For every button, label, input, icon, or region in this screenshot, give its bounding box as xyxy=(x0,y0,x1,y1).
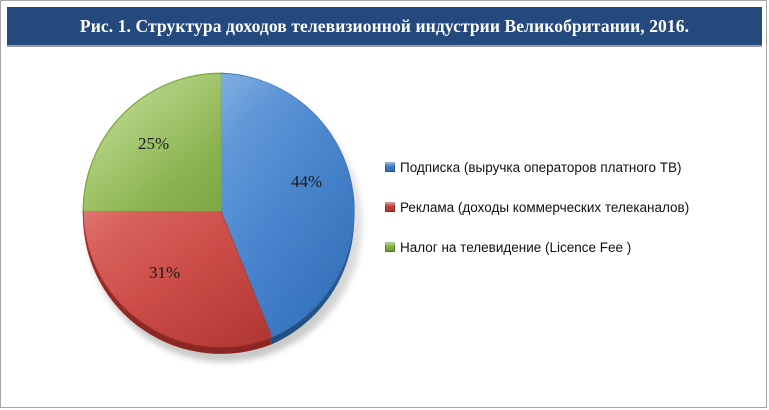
figure-frame: Рис. 1. Структура доходов телевизионной … xyxy=(0,0,767,408)
legend-label-advertising: Реклама (доходы коммерческих телеканалов… xyxy=(400,200,689,215)
pie-label-subscription: 44% xyxy=(291,172,322,192)
page-title: Рис. 1. Структура доходов телевизионной … xyxy=(80,16,689,37)
legend-label-subscription: Подписка (выручка операторов платного ТВ… xyxy=(400,160,682,175)
legend-swatch-green-icon xyxy=(385,242,395,252)
pie-top-faces xyxy=(83,73,354,347)
pie-label-licence-fee: 25% xyxy=(138,134,169,154)
chart-legend: Подписка (выручка операторов платного ТВ… xyxy=(385,147,755,267)
pie-svg xyxy=(75,62,367,362)
pie-chart: 44% 31% 25% xyxy=(75,62,367,362)
legend-swatch-red-icon xyxy=(385,202,395,212)
legend-swatch-blue-icon xyxy=(385,162,395,172)
pie-label-advertising: 31% xyxy=(149,263,180,283)
legend-item-advertising[interactable]: Реклама (доходы коммерческих телеканалов… xyxy=(385,187,755,227)
figure-title-bar: Рис. 1. Структура доходов телевизионной … xyxy=(7,7,762,47)
legend-item-licence-fee[interactable]: Налог на телевидение (Licence Fee ) xyxy=(385,227,755,267)
chart-plot-area: 44% 31% 25% Подписка (выручка операторов… xyxy=(7,49,762,403)
legend-item-subscription[interactable]: Подписка (выручка операторов платного ТВ… xyxy=(385,147,755,187)
legend-label-licence-fee: Налог на телевидение (Licence Fee ) xyxy=(400,240,631,255)
